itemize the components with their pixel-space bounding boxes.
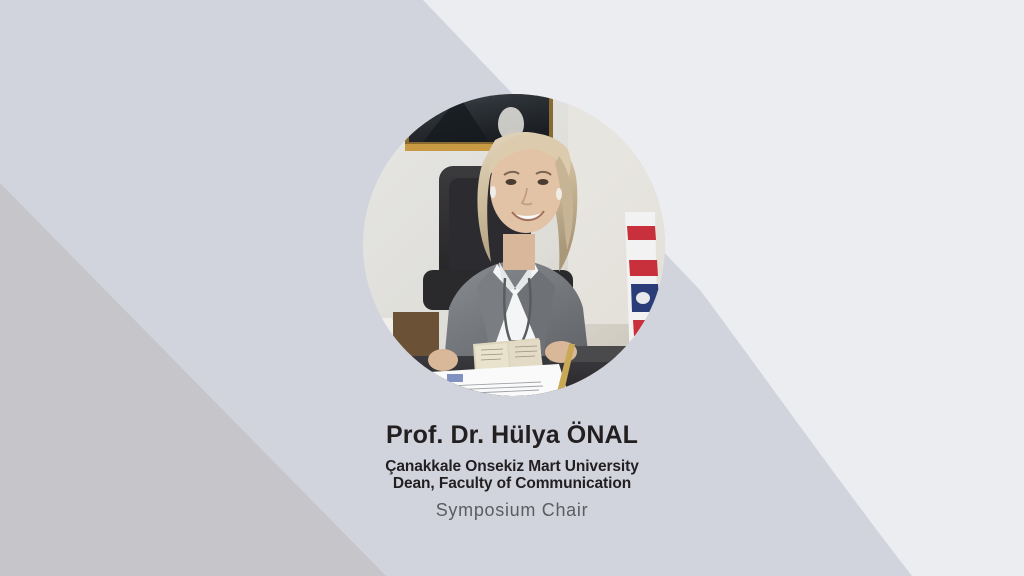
speaker-portrait [363, 94, 665, 396]
affiliation-line-2: Dean, Faculty of Communication [0, 475, 1024, 492]
affiliation-line-1: Çanakkale Onsekiz Mart University [0, 458, 1024, 475]
speaker-role: Symposium Chair [0, 499, 1024, 521]
speaker-affiliation: Çanakkale Onsekiz Mart University Dean, … [0, 458, 1024, 492]
portrait-photograph [363, 94, 665, 396]
speaker-caption: Prof. Dr. Hülya ÖNAL Çanakkale Onsekiz M… [0, 420, 1024, 521]
photo-wall-outlet [369, 318, 393, 340]
speaker-slide: Prof. Dr. Hülya ÖNAL Çanakkale Onsekiz M… [0, 0, 1024, 576]
speaker-name: Prof. Dr. Hülya ÖNAL [0, 420, 1024, 450]
photo-hand-left [428, 349, 458, 371]
